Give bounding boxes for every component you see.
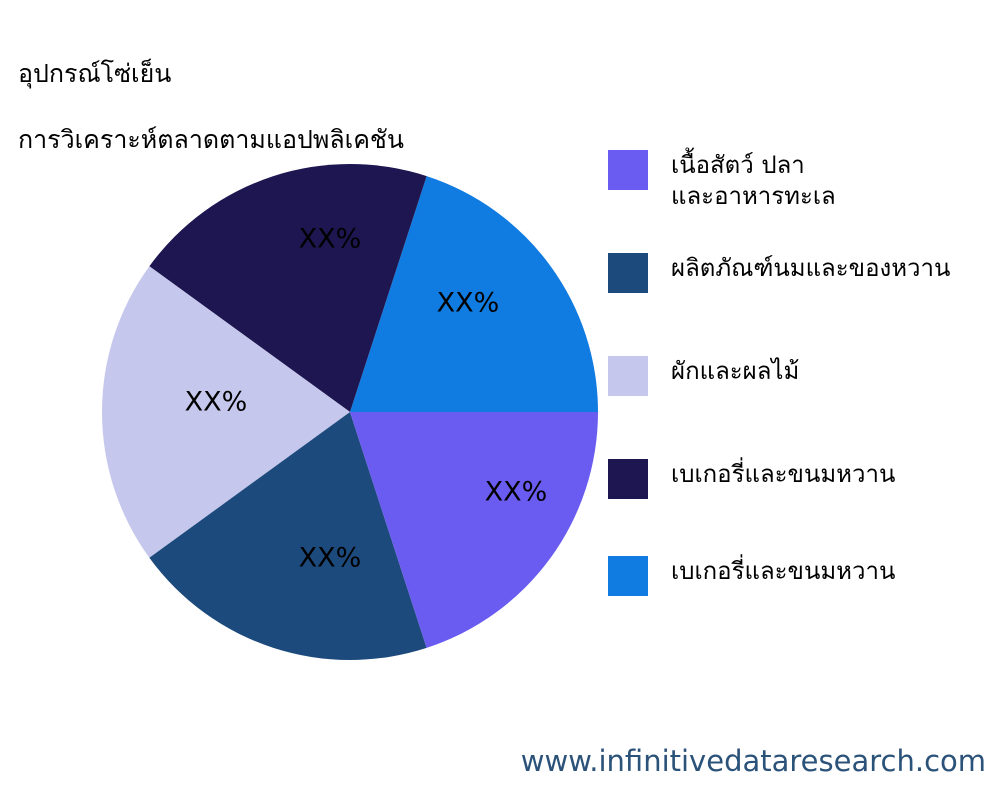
pie-slice-label: XX% <box>299 224 362 255</box>
pie-slice-label: XX% <box>485 477 548 508</box>
pie-chart-svg: XX%XX%XX%XX%XX% <box>0 132 600 702</box>
legend-swatch-icon <box>608 253 648 293</box>
legend-item[interactable]: เนื้อสัตว์ ปลา และอาหารทะเล <box>608 150 1000 211</box>
legend-swatch-icon <box>608 459 648 499</box>
legend-item-label: เบเกอรี่และขนมหวาน <box>671 556 895 587</box>
legend-item[interactable]: ผลิตภัณฑ์นมและของหวาน <box>608 253 1000 293</box>
legend: เนื้อสัตว์ ปลา และอาหารทะเลผลิตภัณฑ์นมแล… <box>608 150 1000 620</box>
legend-swatch-icon <box>608 356 648 396</box>
legend-item-label: ผลิตภัณฑ์นมและของหวาน <box>671 253 950 284</box>
pie-slice-label: XX% <box>185 387 248 418</box>
page-title-line-1: อุปกรณ์โซ่เย็น <box>18 57 658 90</box>
pie-chart: XX%XX%XX%XX%XX% <box>0 132 600 702</box>
legend-item[interactable]: เบเกอรี่และขนมหวาน <box>608 459 1000 499</box>
legend-item[interactable]: ผักและผลไม้ <box>608 356 1000 396</box>
pie-slice-label: XX% <box>437 288 500 319</box>
legend-swatch-icon <box>608 556 648 596</box>
legend-item-label: เบเกอรี่และขนมหวาน <box>671 459 895 490</box>
pie-slice-label: XX% <box>299 543 362 574</box>
legend-item-label: ผักและผลไม้ <box>671 356 799 387</box>
legend-item-label: เนื้อสัตว์ ปลา และอาหารทะเล <box>671 150 836 211</box>
legend-swatch-icon <box>608 150 648 190</box>
legend-item[interactable]: เบเกอรี่และขนมหวาน <box>608 556 1000 596</box>
footer-url: www.infinitivedataresearch.com <box>521 744 986 778</box>
